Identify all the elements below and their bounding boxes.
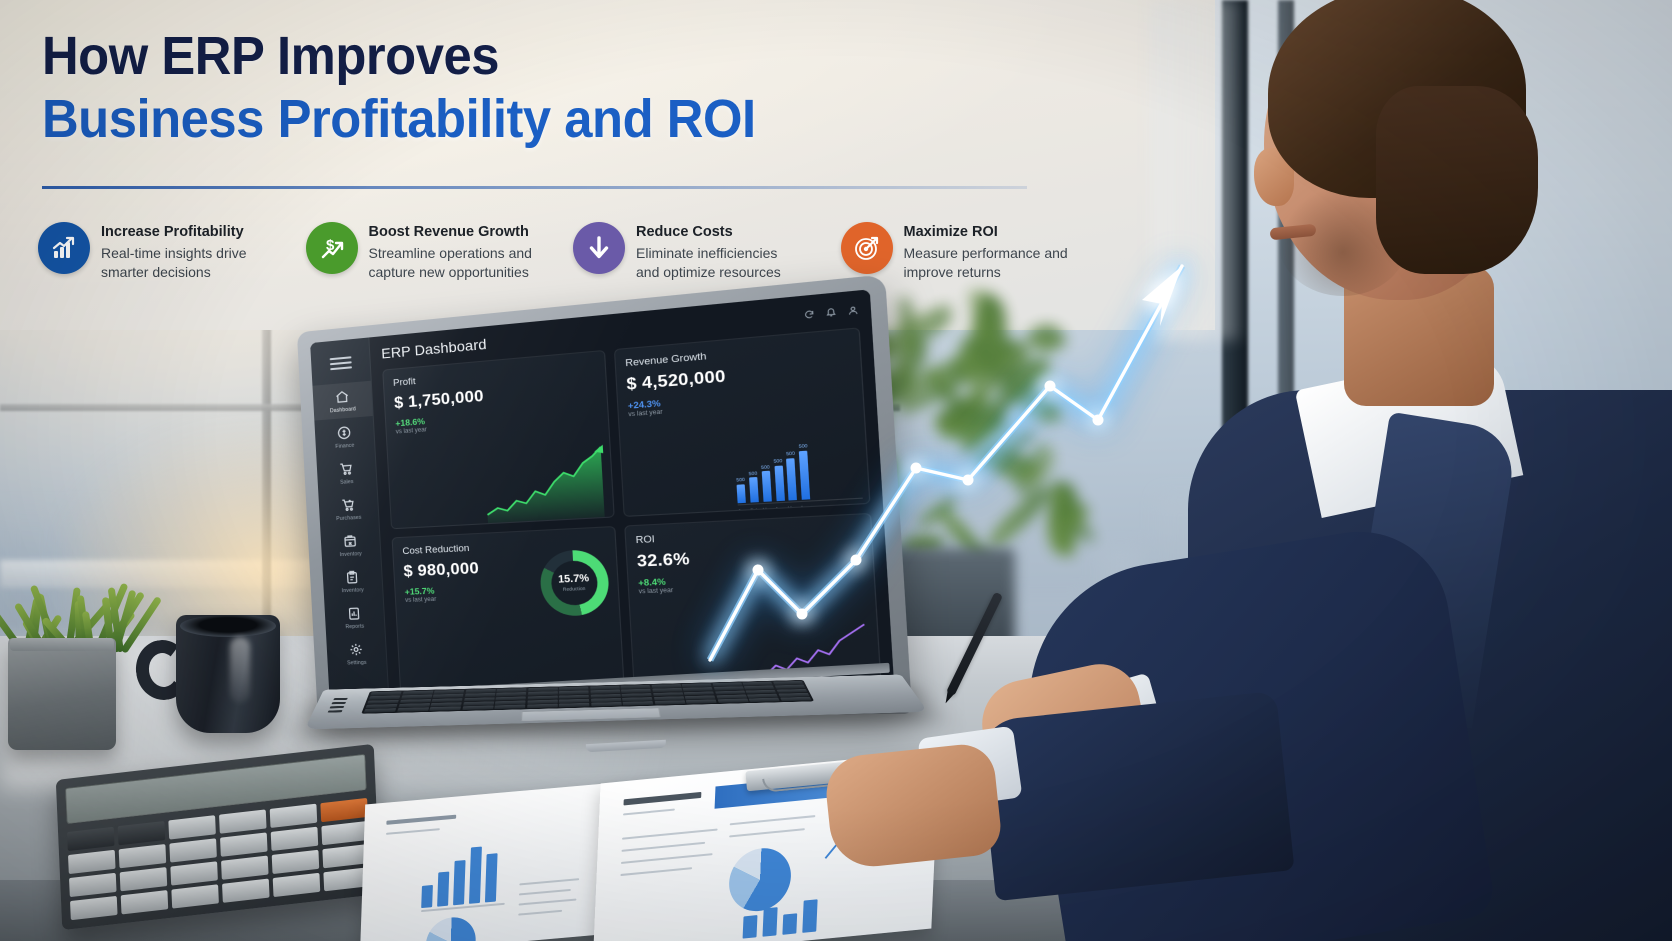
- calculator-key[interactable]: [221, 855, 269, 879]
- report-chart-icon: [346, 606, 362, 622]
- calculator-key[interactable]: [170, 861, 218, 885]
- keyboard-key[interactable]: [686, 699, 717, 703]
- page-title: How ERP Improves Business Profitability …: [42, 28, 1052, 148]
- sidebar-item-settings[interactable]: Settings: [326, 635, 387, 672]
- keyboard-key[interactable]: [591, 702, 622, 706]
- feature-heading: Increase Profitability: [101, 224, 269, 241]
- title-divider: [42, 186, 1027, 189]
- sidebar-item-sales[interactable]: Sales: [316, 453, 376, 492]
- keyboard-key[interactable]: [364, 708, 396, 712]
- keyboard-key[interactable]: [655, 700, 686, 704]
- calculator-key[interactable]: [219, 809, 267, 833]
- calculator-key[interactable]: [273, 873, 321, 897]
- kpi-card-profit[interactable]: Profit $ 1,750,000 +18.6% vs last year: [382, 350, 614, 529]
- calculator-key[interactable]: [169, 838, 217, 862]
- hamburger-menu-icon[interactable]: [329, 356, 351, 370]
- sidebar-item-label: Inventory: [340, 551, 362, 558]
- sidebar-item-inventory[interactable]: Inventory: [320, 526, 380, 564]
- calculator-key[interactable]: [121, 890, 169, 914]
- calculator-key[interactable]: [70, 896, 118, 920]
- sidebar-item-finance[interactable]: Finance: [314, 417, 374, 456]
- calculator-key[interactable]: [68, 850, 116, 874]
- cost-reduction-donut-chart: 15.7% Reduction: [538, 548, 610, 616]
- sidebar-item-label: Reports: [345, 624, 364, 631]
- dollar-arrow-up-icon: $: [306, 222, 358, 274]
- calculator-key[interactable]: [171, 884, 219, 908]
- keyboard-key[interactable]: [718, 699, 749, 703]
- sidebar-item-label: Dashboard: [330, 406, 356, 414]
- clipboard-icon: [344, 569, 360, 585]
- keyboard-key[interactable]: [462, 706, 493, 710]
- sidebar-item-inventory-detail[interactable]: Inventory: [322, 562, 382, 600]
- laptop-trackpad[interactable]: [521, 708, 661, 721]
- keyboard-key[interactable]: [749, 698, 780, 702]
- laptop-ports: [328, 698, 348, 713]
- sidebar-item-label: Sales: [340, 479, 354, 486]
- left-hand: [823, 741, 1004, 870]
- hero-banner: How ERP Improves Business Profitability …: [0, 0, 1672, 941]
- feature-heading: Boost Revenue Growth: [369, 224, 537, 241]
- title-line-2: Business Profitability and ROI: [42, 91, 991, 148]
- shopping-cart-icon: [338, 461, 354, 477]
- kpi-card-cost-reduction[interactable]: Cost Reduction $ 980,000 +15.7% vs last …: [392, 525, 625, 696]
- arrow-down-icon: [573, 222, 625, 274]
- calculator-key[interactable]: [120, 867, 168, 891]
- profit-area-chart: [481, 440, 613, 523]
- sidebar-item-label: Finance: [335, 443, 354, 450]
- laptop-front-notch: [586, 740, 666, 752]
- box-icon: [342, 533, 358, 549]
- businessman: [1118, 0, 1672, 941]
- calculator-key[interactable]: [272, 850, 320, 874]
- hair-back: [1376, 86, 1538, 274]
- calculator-key[interactable]: [69, 873, 117, 897]
- calculator-key[interactable]: [222, 879, 270, 903]
- calculator-key[interactable]: [271, 827, 319, 851]
- cart-plus-icon: [340, 497, 356, 513]
- calculator-key[interactable]: [320, 798, 368, 822]
- coffee-mug: [176, 615, 280, 733]
- feature-body: Streamline operations and capture new op…: [369, 244, 537, 282]
- feature-item-boost-revenue-growth: $ Boost Revenue Growth Streamline operat…: [306, 222, 574, 282]
- keyboard-key[interactable]: [559, 703, 590, 707]
- keyboard-key[interactable]: [780, 697, 811, 701]
- feature-body: Real-time insights drive smarter decisio…: [101, 244, 269, 282]
- sidebar-item-reports[interactable]: Reports: [324, 599, 385, 636]
- keyboard-key[interactable]: [494, 705, 525, 709]
- donut-value: 15.7%: [558, 573, 590, 586]
- sidebar-item-dashboard[interactable]: Dashboard: [312, 381, 372, 421]
- calculator-key[interactable]: [67, 827, 115, 851]
- left-arm-sleeve: [977, 691, 1294, 901]
- calculator-key[interactable]: [270, 804, 318, 828]
- sidebar-item-label: Settings: [347, 660, 367, 666]
- dashboard-title: ERP Dashboard: [381, 336, 487, 362]
- potted-fern-pot: [8, 638, 116, 750]
- keyboard-key[interactable]: [429, 706, 461, 710]
- feature-item-increase-profitability: Increase Profitability Real-time insight…: [38, 222, 306, 282]
- bar-chart-growth-icon: [38, 222, 90, 274]
- sidebar-item-label: Inventory: [342, 587, 364, 594]
- keyboard-key[interactable]: [397, 707, 429, 711]
- donut-label: Reduction: [563, 586, 586, 592]
- keyboard-key[interactable]: [527, 704, 558, 708]
- keyboard-key[interactable]: [623, 701, 654, 705]
- calculator-key[interactable]: [220, 832, 268, 856]
- home-icon: [334, 389, 350, 405]
- calculator-key[interactable]: [119, 844, 167, 868]
- calculator-key[interactable]: [118, 821, 166, 845]
- title-line-1: How ERP Improves: [42, 28, 991, 85]
- gear-icon: [348, 642, 364, 657]
- sidebar-item-label: Purchases: [336, 515, 362, 522]
- coin-icon: [336, 425, 352, 441]
- sidebar-item-purchases[interactable]: Purchases: [318, 490, 378, 528]
- calculator-key[interactable]: [321, 821, 369, 845]
- calculator-key[interactable]: [168, 815, 216, 839]
